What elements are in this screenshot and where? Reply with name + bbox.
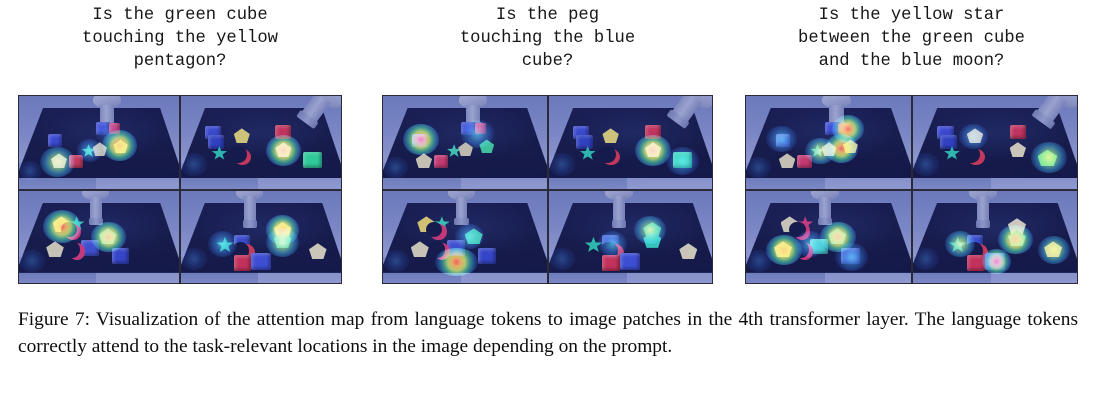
object-pink-cube: [475, 123, 486, 134]
scene-render: [549, 191, 713, 284]
object-green-cube: [673, 152, 693, 169]
robot-arm-icon: [602, 191, 635, 230]
attention-panel-group-1: [18, 95, 342, 284]
figure-caption: Figure 7: Visualization of the attention…: [18, 307, 1078, 360]
scene-render: [19, 96, 179, 189]
object-blue-cube: [48, 134, 62, 147]
scene-render: [913, 96, 1078, 189]
object-red-cube: [602, 255, 620, 271]
attention-panel-g2-2: [549, 96, 713, 189]
scene-render: [913, 191, 1078, 284]
object-pink-cube: [109, 123, 120, 134]
object-blue-cube: [620, 253, 640, 270]
object-red-moon: [234, 149, 252, 166]
attention-panel-group-2: [382, 95, 713, 284]
prompt-group-3: Is the yellow star between the green cub…: [745, 4, 1078, 73]
object-pink-moon: [794, 224, 810, 240]
attention-panel-g2-1: [383, 96, 547, 189]
attention-panel-g1-4: [181, 191, 341, 284]
scene-render: [181, 191, 341, 284]
object-red-cube: [275, 125, 291, 139]
robot-arm-icon: [445, 191, 478, 228]
object-pink-cube: [838, 123, 850, 134]
object-blue-cube: [251, 253, 270, 270]
scene-render: [746, 191, 911, 284]
object-blue-cube: [412, 134, 427, 147]
attention-panel-g1-1: [19, 96, 179, 189]
figure-caption-text: Visualization of the attention map from …: [18, 309, 1078, 357]
object-blue-cube: [112, 248, 130, 264]
scene-render: [549, 96, 713, 189]
object-red-cube: [1010, 125, 1026, 139]
scene-render: [383, 96, 547, 189]
attention-panel-g3-3: [746, 191, 911, 284]
object-pink-moon: [797, 243, 813, 260]
robot-arm-icon: [967, 191, 1000, 230]
object-pink-moon: [69, 243, 85, 260]
attention-panel-g1-3: [19, 191, 179, 284]
prompt-row: Is the green cube touching the yellow pe…: [0, 4, 1103, 88]
figure-number: Figure 7:: [18, 309, 90, 330]
object-red-cube: [645, 125, 661, 139]
object-blue-cube: [208, 135, 224, 149]
attention-panel-g3-2: [913, 96, 1078, 189]
object-pink-cube: [434, 155, 449, 168]
object-pink-cube: [797, 155, 812, 168]
robot-arm-icon: [80, 191, 112, 228]
object-blue-cube: [478, 248, 496, 264]
attention-panel-group-3: [745, 95, 1078, 284]
figure-container: Is the green cube touching the yellow pe…: [0, 0, 1103, 414]
object-red-cube: [234, 255, 252, 271]
object-red-moon: [967, 149, 985, 166]
attention-panel-g3-1: [746, 96, 911, 189]
scene-render: [181, 96, 341, 189]
attention-panel-g1-2: [181, 96, 341, 189]
object-blue-cube: [985, 253, 1005, 270]
object-green-cube: [303, 152, 322, 169]
attention-panel-g2-4: [549, 191, 713, 284]
object-blue-cube: [940, 135, 956, 149]
object-red-cube: [69, 155, 83, 168]
object-red-cube: [967, 255, 985, 271]
attention-panel-g3-4: [913, 191, 1078, 284]
object-blue-cube: [461, 122, 476, 135]
object-pink-moon: [65, 224, 81, 240]
prompt-group-2: Is the peg touching the blue cube?: [382, 4, 713, 73]
prompt-group-1: Is the green cube touching the yellow pe…: [18, 4, 342, 73]
scene-render: [383, 191, 547, 284]
scene-render: [19, 191, 179, 284]
object-pink-moon: [434, 243, 450, 260]
object-blue-cube: [576, 135, 592, 149]
object-red-moon: [602, 149, 620, 166]
attention-panel-g2-3: [383, 191, 547, 284]
scene-render: [746, 96, 911, 189]
object-blue-cube: [776, 134, 791, 147]
object-pink-moon: [430, 224, 446, 240]
robot-arm-icon: [809, 191, 842, 228]
object-blue-cube: [841, 248, 859, 264]
robot-arm-icon: [234, 191, 266, 230]
